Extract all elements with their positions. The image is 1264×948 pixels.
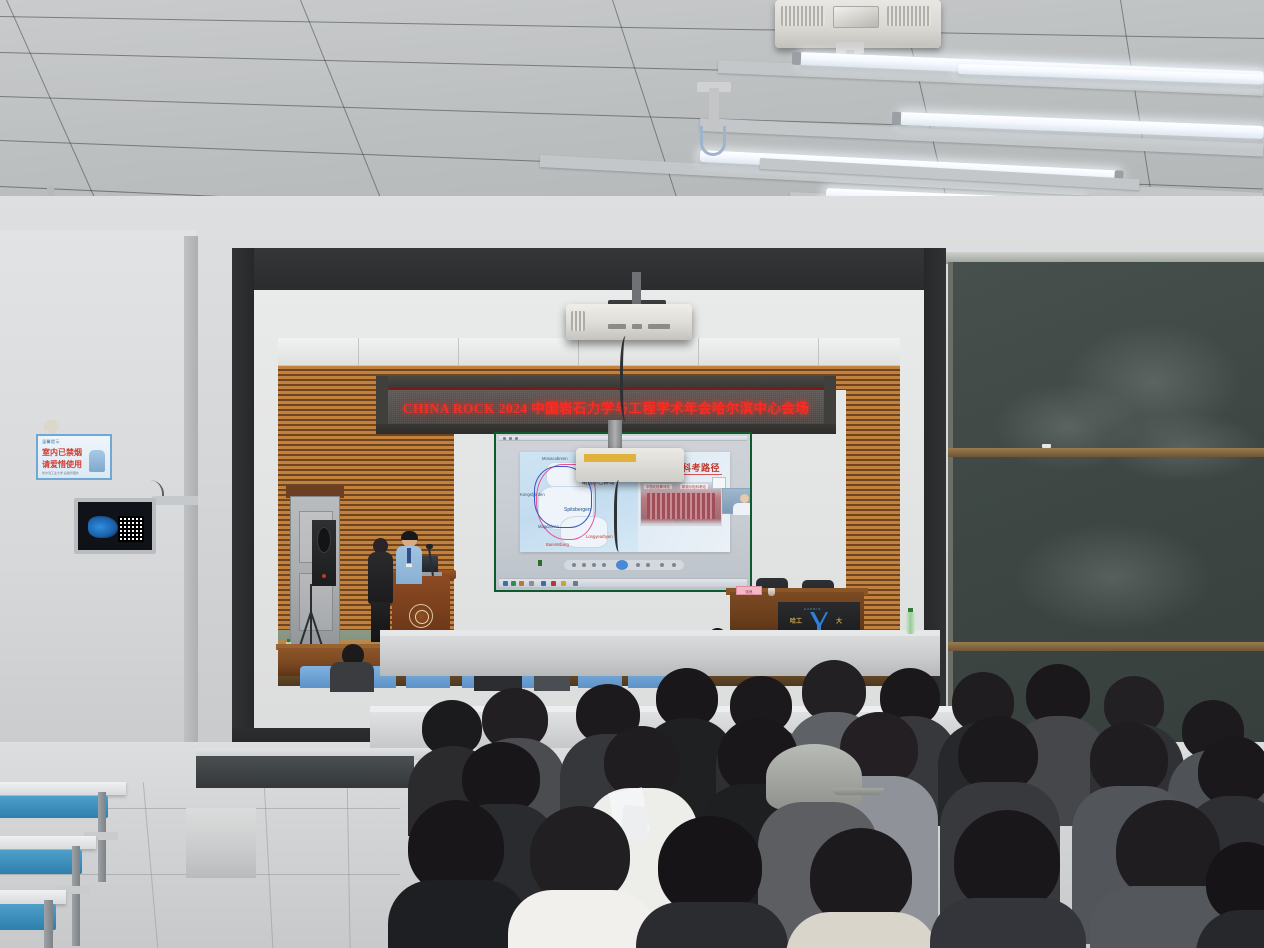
- poster-illustration: [89, 450, 105, 472]
- student-desk: [0, 890, 66, 904]
- map-label: Spitsbergen: [564, 507, 591, 513]
- poster-footer: 哈尔滨工业大学 后勤管理处: [42, 471, 79, 475]
- ceiling-mount-pole: [709, 88, 719, 130]
- wall-notice-poster: 温馨提示 室内已禁烟 请爱惜使用 哈尔滨工业大学 后勤管理处: [36, 434, 112, 480]
- desk-leg: [72, 846, 80, 946]
- front-projector-pole: [632, 272, 641, 306]
- slide-photo-caption-left: 中国北极黄河站: [644, 484, 672, 489]
- led-banner: CHINA ROCK 2024 中国岩石力学与工程学术年会哈尔滨中心会场: [388, 388, 824, 424]
- desk-seat-panel: [0, 796, 108, 818]
- stage-step-riser: [196, 756, 414, 788]
- map-label: Longyearbyen: [586, 534, 613, 539]
- backdrop-text-left: 哈工: [790, 616, 802, 625]
- projector-cable-lower: [614, 480, 626, 552]
- left-wall-edge: [184, 236, 198, 792]
- map-label: Kongsfjorden: [520, 492, 545, 497]
- led-banner-frame-top: [376, 376, 836, 388]
- chalk-piece: [1042, 444, 1051, 448]
- stage-side-band-left: [232, 248, 254, 754]
- ceiling-projector-rear: [775, 0, 941, 48]
- stage-valance: [278, 338, 900, 366]
- stage-header-band: [232, 248, 946, 290]
- student-desk: [0, 836, 96, 849]
- seated-panelist: [330, 644, 374, 690]
- projector-cable: [620, 336, 634, 422]
- video-pip-window: [722, 488, 750, 514]
- poster-header: 温馨提示: [42, 439, 60, 445]
- slide-photo-caption-right: 新奥尔松科考站: [680, 484, 708, 489]
- student-desk: [0, 782, 126, 795]
- water-bottle: [906, 612, 915, 634]
- qr-code-icon: [118, 516, 144, 542]
- pa-loudspeaker: [312, 520, 336, 586]
- floor-step-block: [186, 808, 256, 878]
- front-ceiling-projector: [566, 304, 692, 340]
- desk-seat-panel: [0, 850, 82, 874]
- podium-emblem: [409, 604, 433, 628]
- chalk-tray: [948, 448, 1264, 457]
- slide-title: 科考路径: [682, 461, 720, 474]
- slide-photo-watermark: Ny-Ålesund: [672, 518, 694, 522]
- lecture-hall-scene: CHINA ROCK 2024 中国岩石力学与工程学术年会哈尔滨中心会场 Mon…: [0, 0, 1264, 948]
- front-projector-body: [576, 448, 684, 482]
- classroom-info-display[interactable]: [74, 498, 156, 554]
- name-card: 张良: [736, 586, 762, 595]
- backdrop-subtext: HARBIN: [804, 607, 821, 611]
- map-label: Monacobreen: [542, 456, 568, 461]
- microphone-head: [426, 544, 433, 549]
- desk-leg: [44, 900, 53, 948]
- led-banner-text: CHINA ROCK 2024 中国岩石力学与工程学术年会哈尔滨中心会场: [403, 397, 809, 417]
- poster-line-2: 请爱惜使用: [42, 459, 82, 470]
- presentation-controls[interactable]: [564, 560, 684, 570]
- display-mount-rail: [152, 496, 198, 505]
- mouse-cursor: [538, 560, 542, 566]
- tea-cup: [768, 588, 775, 596]
- map-label: Magdalena: [538, 524, 559, 529]
- projected-window-titlebar: [499, 436, 747, 441]
- projected-taskbar[interactable]: [499, 578, 747, 587]
- backdrop-text-right: 大: [836, 616, 842, 625]
- chalk-tray: [948, 642, 1264, 651]
- poster-line-1: 室内已禁烟: [42, 447, 82, 458]
- ceiling-cable: [700, 126, 726, 156]
- display-graphic: [88, 516, 118, 538]
- classroom-chalkboard: [948, 262, 1264, 742]
- assistant-person: [368, 538, 394, 638]
- map-label: Barentsburg: [546, 542, 569, 547]
- cap-brim: [832, 788, 884, 795]
- presenter-person: [396, 532, 422, 582]
- baseball-cap: [766, 744, 862, 810]
